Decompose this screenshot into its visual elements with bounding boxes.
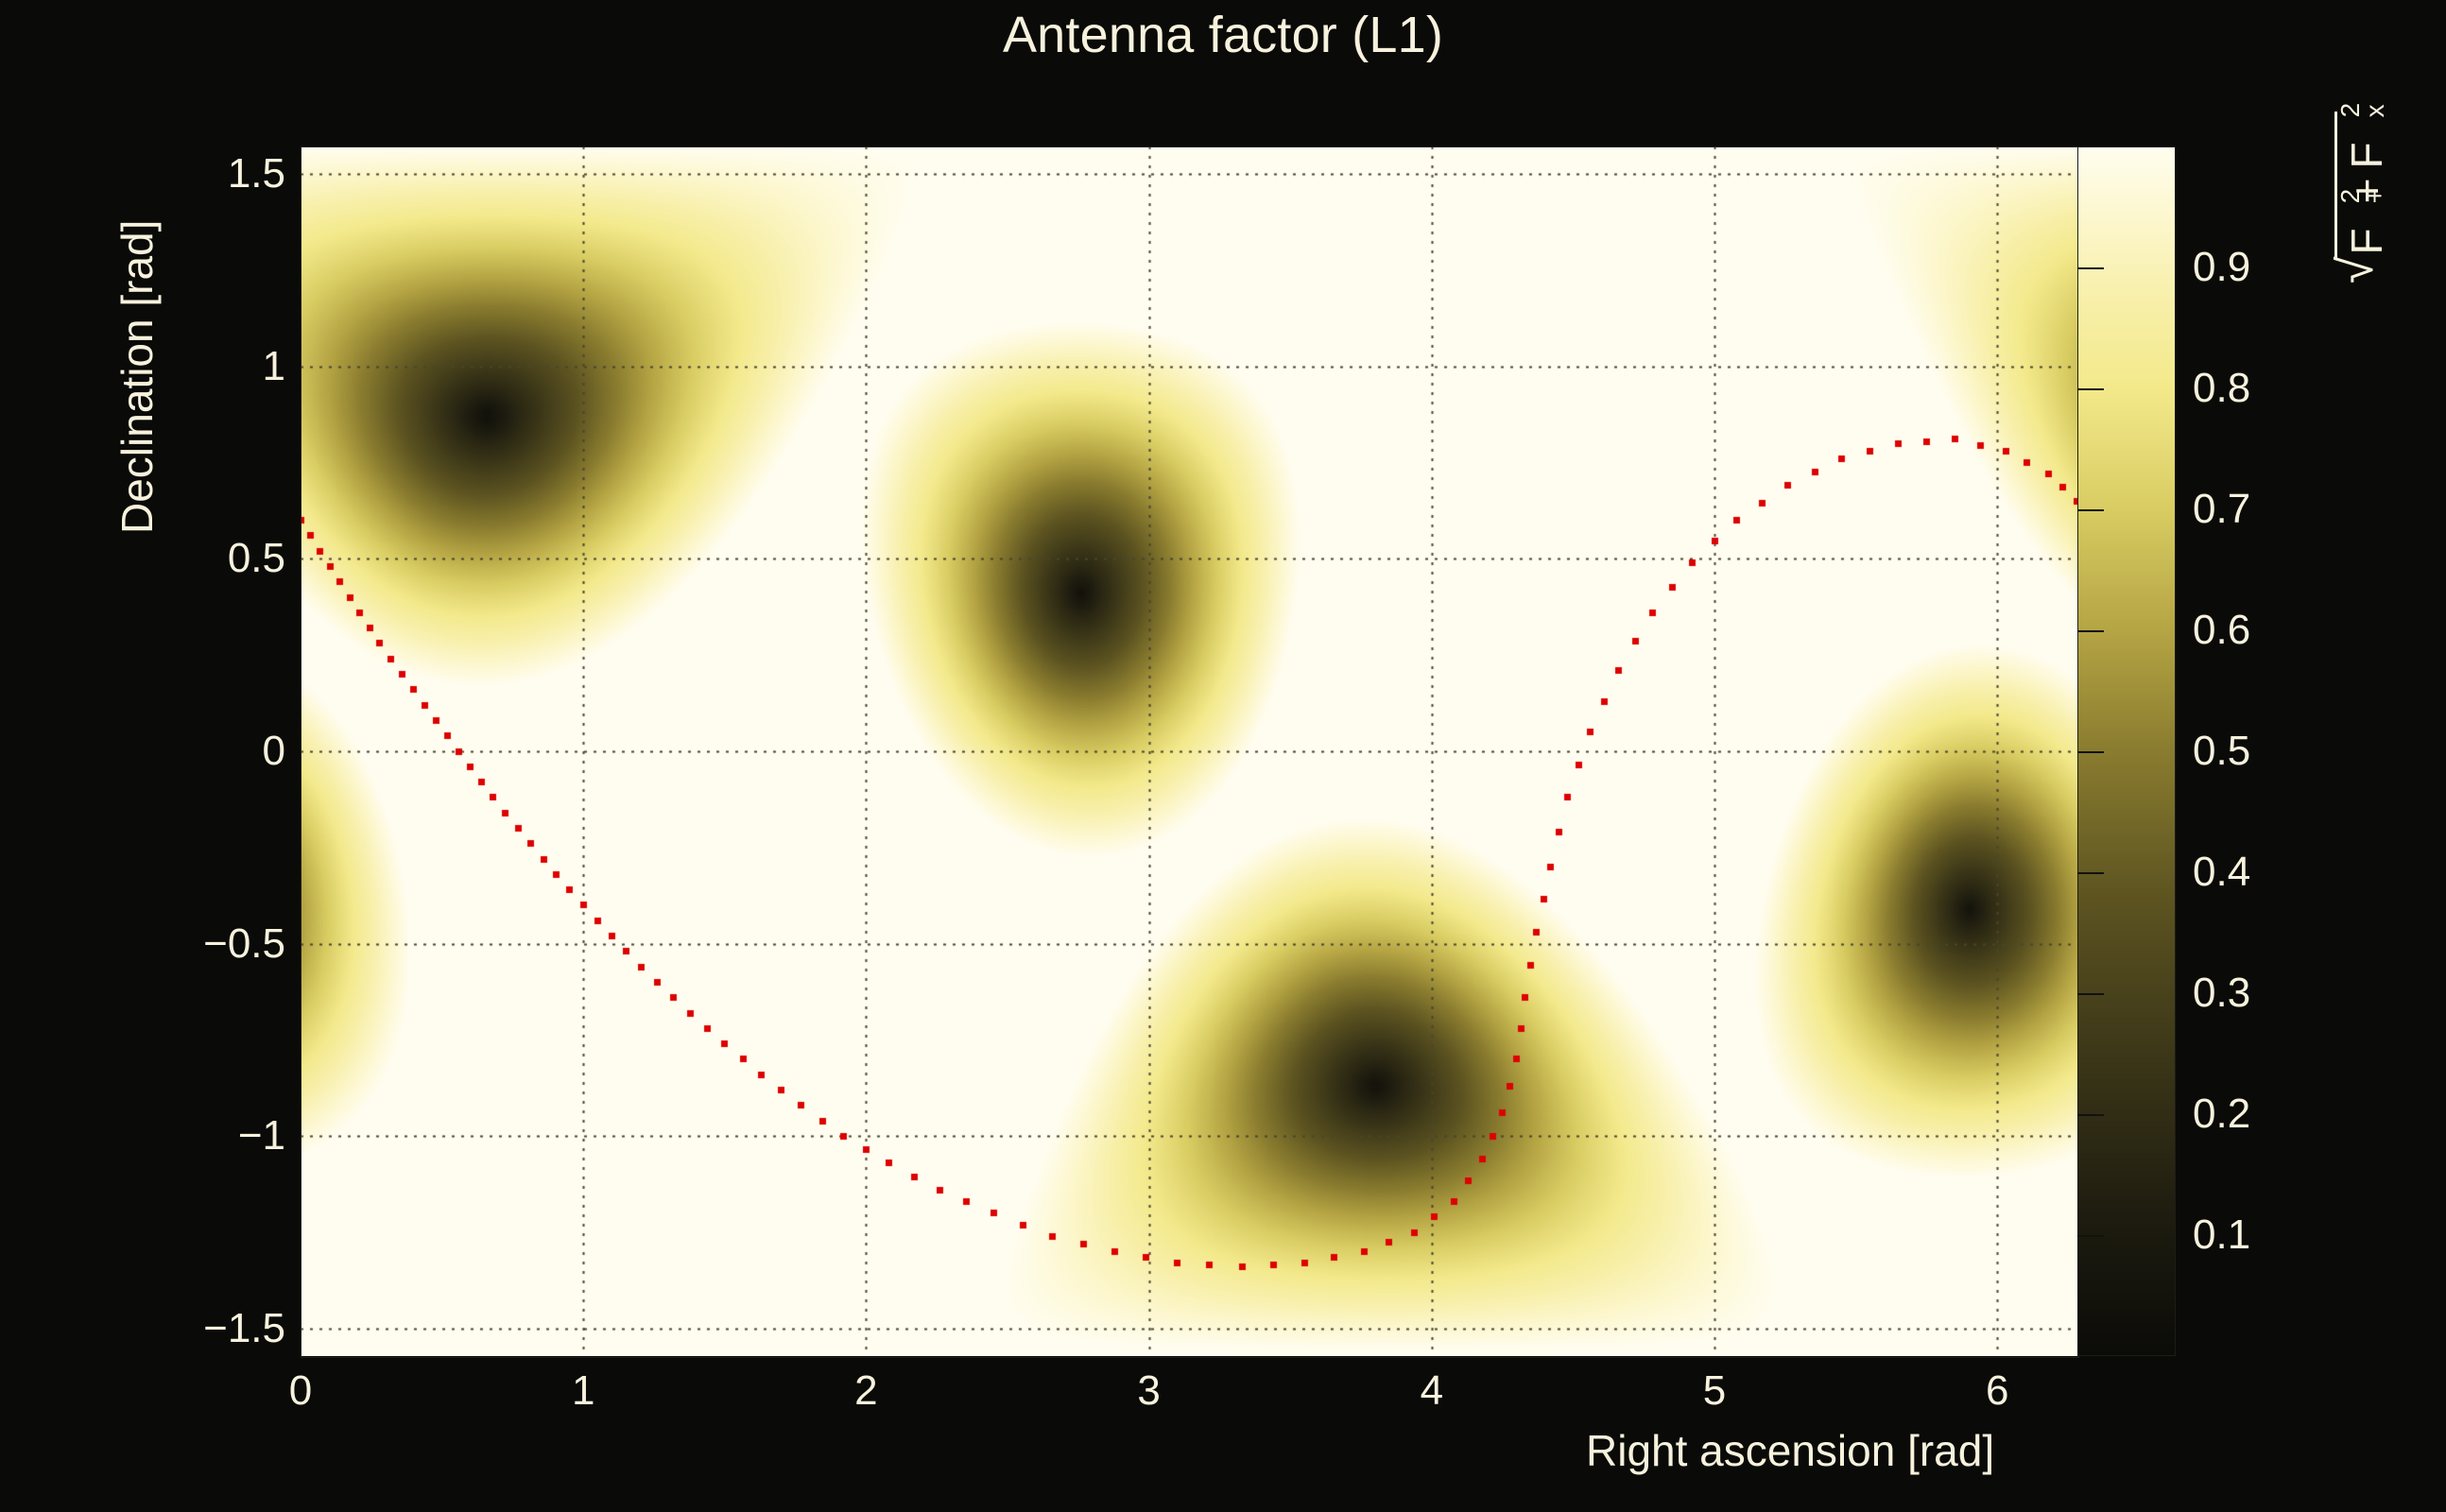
x-axis-tick-label: 2 [854, 1367, 877, 1415]
f-cross-squared-term: F2x [2341, 117, 2392, 168]
galactic-plane-overlay-canvas [301, 146, 2077, 1356]
colorbar-tick-label: 0.9 [2193, 244, 2250, 291]
x-axis-tick-label: 5 [1703, 1367, 1726, 1415]
y-axis-title: Declination [rad] [112, 220, 163, 534]
colorbar-axis-title: √ F2++F2x [2334, 112, 2392, 283]
colorbar-tick-label: 0.8 [2193, 365, 2250, 412]
f-plus-subscript: + [2360, 188, 2390, 203]
y-axis-tick-label: −0.5 [203, 920, 285, 968]
colorbar-tick-label: 0.4 [2193, 849, 2250, 896]
colorbar-tick-label: 0.1 [2193, 1211, 2250, 1259]
colorbar-tick-label: 0.6 [2193, 607, 2250, 654]
colorbar-tick-mark [2077, 993, 2104, 995]
f-plus-squared-term: F2+ [2341, 203, 2392, 254]
colorbar-tick-mark [2077, 751, 2104, 753]
y-axis-tick-label: 1.5 [228, 150, 285, 198]
colorbar-tick-mark [2077, 1114, 2104, 1116]
root-canvas-plot: Antenna factor (L1) 0123456 −1.5−1−0.500… [0, 0, 2446, 1512]
x-axis-tick-label: 1 [572, 1367, 594, 1415]
y-axis-tick-label: −1 [238, 1112, 285, 1160]
heatmap-plot-area[interactable] [301, 146, 2077, 1356]
colorbar-tick-mark [2077, 267, 2104, 269]
radical-sign-icon: √ [2334, 256, 2379, 283]
f-cross-base: F [2342, 142, 2391, 168]
f-plus-base: F [2342, 228, 2391, 254]
y-axis-tick-label: 0 [263, 728, 285, 775]
colorbar-tick-label: 0.5 [2193, 728, 2250, 775]
radicand-expression: F2++F2x [2334, 112, 2392, 258]
colorbar-tick-label: 0.2 [2193, 1091, 2250, 1138]
x-axis-title: Right ascension [rad] [1586, 1425, 1994, 1476]
y-axis-tick-label: 1 [263, 343, 285, 390]
x-axis-tick-label: 6 [1986, 1367, 2008, 1415]
colorbar-tick-mark [2077, 388, 2104, 390]
colorbar-tick-mark [2077, 1235, 2104, 1237]
x-axis-tick-label: 0 [289, 1367, 312, 1415]
colorbar-tick-mark [2077, 630, 2104, 632]
y-axis-tick-label: 0.5 [228, 535, 285, 582]
colorbar-tick-mark [2077, 872, 2104, 874]
colorbar-tick-mark [2077, 509, 2104, 511]
page-title: Antenna factor (L1) [0, 6, 2446, 64]
colorbar-tick-label: 0.3 [2193, 970, 2250, 1017]
x-axis-tick-label: 4 [1421, 1367, 1443, 1415]
x-axis-tick-label: 3 [1137, 1367, 1160, 1415]
colorbar-tick-label: 0.7 [2193, 486, 2250, 533]
f-cross-subscript: x [2360, 104, 2390, 117]
y-axis-tick-label: −1.5 [203, 1305, 285, 1352]
